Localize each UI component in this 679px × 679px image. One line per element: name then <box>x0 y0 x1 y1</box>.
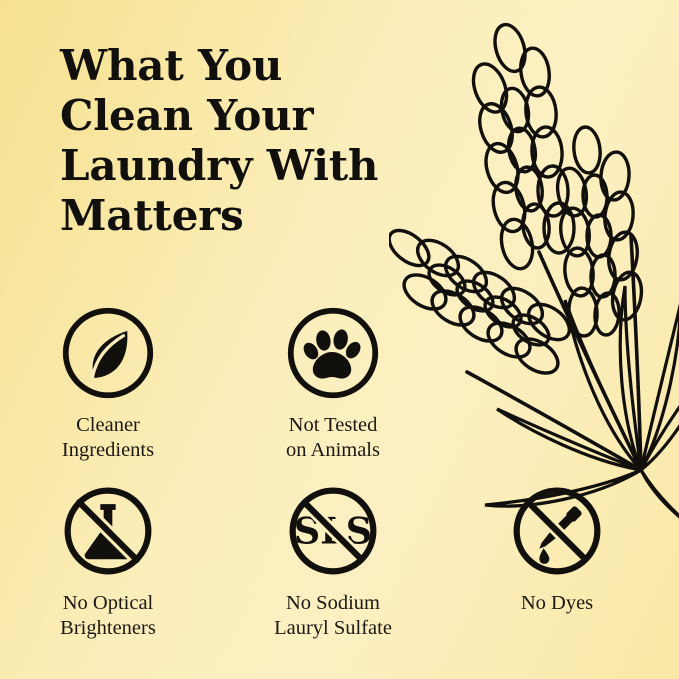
badge-cleaner-ingredients: Cleaner Ingredients <box>8 305 208 463</box>
badge-no-optical-brighteners: No Optical Brighteners <box>8 483 208 641</box>
badge-no-sodium-lauryl-sulfate: SLS No Sodium Lauryl Sulfate <box>233 483 433 641</box>
badge-label: Cleaner Ingredients <box>8 413 208 463</box>
sls-text-icon: SLS <box>285 483 381 579</box>
poster-canvas: What You Clean Your Laundry With Matters <box>0 0 679 679</box>
paw-print-icon <box>285 305 381 401</box>
badge-no-dyes: No Dyes <box>457 483 657 616</box>
page-title: What You Clean Your Laundry With Matters <box>60 41 440 241</box>
badge-label: No Dyes <box>457 591 657 616</box>
erlenmeyer-flask-icon <box>60 483 156 579</box>
dropper-icon <box>509 483 605 579</box>
leaf-icon <box>60 305 156 401</box>
badge-label: No Optical Brighteners <box>8 591 208 641</box>
badge-not-tested-on-animals: Not Tested on Animals <box>233 305 433 463</box>
badge-label: Not Tested on Animals <box>233 413 433 463</box>
badge-label: No Sodium Lauryl Sulfate <box>233 591 433 641</box>
